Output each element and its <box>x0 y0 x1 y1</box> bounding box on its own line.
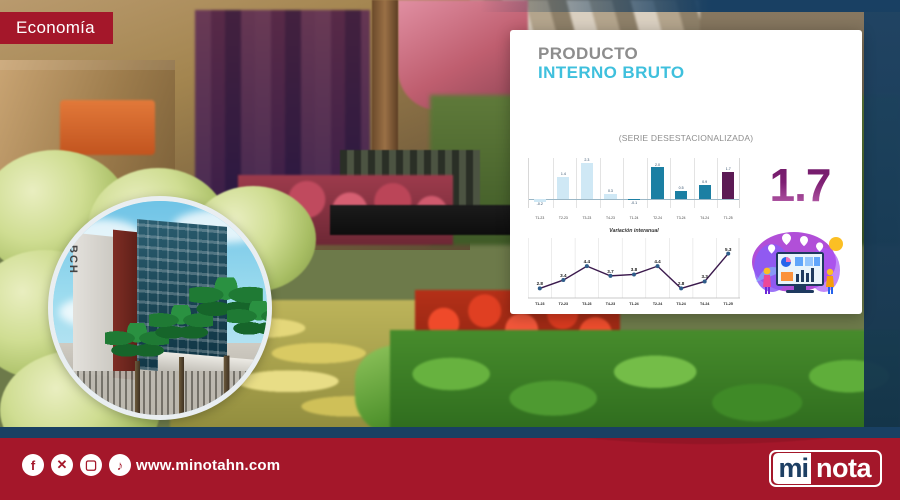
footer-navy-divider <box>0 427 900 438</box>
screenshot-root: Economía BCH PRODUCTO INTERNO BRUTO (SER… <box>0 0 900 500</box>
category-tag: Economía <box>0 12 113 44</box>
logo-mi: mi <box>773 453 811 484</box>
bar-axis-label: T3-23 <box>575 216 599 220</box>
bar-value-label: 0.5 <box>669 186 693 190</box>
card-title-line1: PRODUCTO <box>538 44 685 63</box>
bar-value-label: 0.3 <box>598 189 622 193</box>
bch-building-inset: BCH <box>48 196 272 420</box>
card-title: PRODUCTO INTERNO BRUTO <box>538 44 685 82</box>
line-axis-label: T3-24 <box>669 302 693 306</box>
bar-T2-23 <box>557 177 569 199</box>
line-axis-label: T4-23 <box>598 302 622 306</box>
line-value-label: 4.4 <box>577 259 597 264</box>
bar-value-label: 0.9 <box>693 180 717 184</box>
line-axis-label: T4-24 <box>693 302 717 306</box>
category-tag-label: Economía <box>16 18 95 38</box>
line-value-label: 3.8 <box>624 267 644 272</box>
line-value-label: 3.4 <box>553 273 573 278</box>
line-axis-label: T1-24 <box>622 302 646 306</box>
bar-axis-label: T4-23 <box>598 216 622 220</box>
quarterly-bar-chart: -0.2T1-231.4T2-232.3T3-230.3T4-23-0.1T1-… <box>528 158 740 220</box>
tiktok-icon[interactable]: ♪ <box>109 454 131 476</box>
social-icons[interactable]: f✕▢♪ <box>22 454 131 476</box>
website-url[interactable]: www.minotahn.com <box>136 457 280 474</box>
bch-building-label: BCH <box>67 245 79 275</box>
line-axis-label: T1-23 <box>528 302 552 306</box>
bar-value-label: 1.4 <box>551 172 575 176</box>
logo-nota: nota <box>811 453 878 484</box>
bar-value-label: 1.7 <box>716 167 740 171</box>
instagram-icon[interactable]: ▢ <box>80 454 102 476</box>
line-chart-title: Variación interanual <box>528 228 740 234</box>
bar-axis-label: T1-24 <box>622 216 646 220</box>
line-value-label: 4.4 <box>648 259 668 264</box>
line-axis-label: T3-23 <box>575 302 599 306</box>
line-axis-label: T2-23 <box>551 302 575 306</box>
bar-T1-25 <box>722 172 734 199</box>
minota-logo: mi nota <box>769 450 882 487</box>
line-value-label: 3.3 <box>695 274 715 279</box>
data-dashboard-illustration <box>742 226 852 306</box>
line-value-label: 3.7 <box>600 269 620 274</box>
line-axis-label: T1-25 <box>716 302 740 306</box>
line-value-label: 2.8 <box>671 281 691 286</box>
bar-T4-24 <box>699 185 711 199</box>
yoy-variation-line-chart: Variación interanual 2.8T1-233.4T2-234.4… <box>528 238 740 306</box>
line-axis-label: T2-24 <box>646 302 670 306</box>
highlight-value: 1.7 <box>746 158 854 212</box>
bar-value-label: 2.0 <box>646 163 670 167</box>
bar-axis-label: T1-23 <box>528 216 552 220</box>
bar-value-label: 2.3 <box>575 158 599 162</box>
bar-value-label: -0.2 <box>528 202 552 206</box>
bar-T3-23 <box>581 163 593 199</box>
x-twitter-icon[interactable]: ✕ <box>51 454 73 476</box>
bar-T3-24 <box>675 191 687 199</box>
bar-T2-24 <box>651 167 663 198</box>
bar-axis-label: T4-24 <box>693 216 717 220</box>
facebook-icon[interactable]: f <box>22 454 44 476</box>
bar-axis-label: T2-23 <box>551 216 575 220</box>
bar-axis-label: T3-24 <box>669 216 693 220</box>
bar-axis-label: T2-24 <box>646 216 670 220</box>
navy-side-panel <box>864 0 900 438</box>
palm-tree-icon <box>229 301 272 413</box>
line-value-label: 2.8 <box>530 281 550 286</box>
bar-T4-23 <box>604 194 616 199</box>
gdp-info-card: PRODUCTO INTERNO BRUTO (SERIE DESESTACIO… <box>510 30 862 314</box>
card-title-line2: INTERNO BRUTO <box>538 63 685 82</box>
bar-axis-label: T1-25 <box>716 216 740 220</box>
bar-value-label: -0.1 <box>622 201 646 205</box>
footer-bar: f✕▢♪ www.minotahn.com mi nota <box>0 438 900 500</box>
line-value-label: 5.3 <box>718 247 738 252</box>
card-subtitle: (SERIE DESESTACIONALIZADA) <box>510 133 862 143</box>
